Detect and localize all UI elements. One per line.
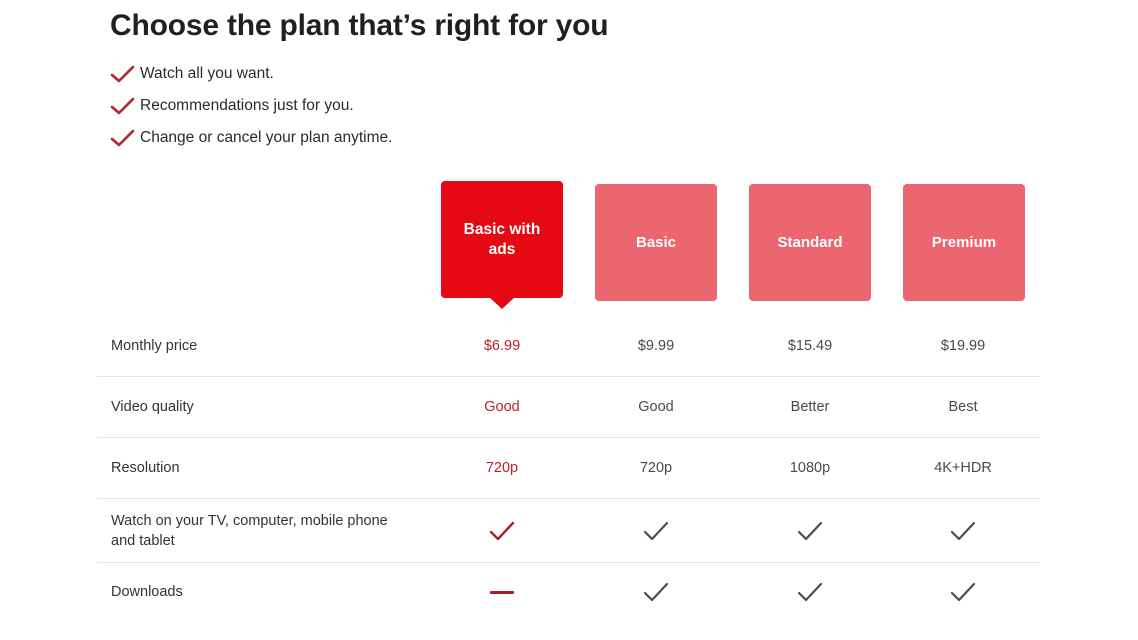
- table-row: Downloads: [97, 563, 1040, 621]
- check-icon: [110, 126, 140, 150]
- feature-label: Downloads: [111, 582, 401, 602]
- plan-card-standard[interactable]: Standard: [749, 184, 871, 301]
- check-icon: [740, 519, 880, 543]
- cell-value: [432, 519, 572, 543]
- check-icon: [432, 519, 572, 543]
- check-icon: [110, 94, 140, 118]
- feature-label: Watch on your TV, computer, mobile phone…: [111, 511, 401, 551]
- cell-value: [893, 580, 1033, 604]
- benefit-item: Recommendations just for you.: [110, 90, 1050, 122]
- check-icon: [110, 62, 140, 86]
- feature-label: Resolution: [111, 458, 401, 478]
- cell-value: Best: [893, 399, 1033, 415]
- cell-value: [586, 519, 726, 543]
- plan-card-label: Premium: [932, 233, 996, 253]
- plan-card-label: Basic with ads: [451, 220, 553, 260]
- cell-value: 720p: [586, 460, 726, 476]
- cell-value: 1080p: [740, 460, 880, 476]
- benefits-list: Watch all you want. Recommendations just…: [110, 58, 1050, 154]
- plan-selection-page: Choose the plan that’s right for you Wat…: [0, 0, 1138, 640]
- table-row: Video quality Good Good Better Best: [97, 377, 1040, 438]
- cell-value: Good: [586, 399, 726, 415]
- plan-cards: Basic with ads Basic Standard Premium: [441, 181, 1025, 306]
- table-row: Watch on your TV, computer, mobile phone…: [97, 499, 1040, 563]
- cell-value: [432, 580, 572, 604]
- cell-value: [893, 519, 1033, 543]
- plan-comparison-table: Monthly price $6.99 $9.99 $15.49 $19.99 …: [97, 316, 1040, 621]
- cell-value: [740, 519, 880, 543]
- cell-value: Better: [740, 399, 880, 415]
- feature-label: Video quality: [111, 397, 401, 417]
- plan-card-basic[interactable]: Basic: [595, 184, 717, 301]
- check-icon: [586, 580, 726, 604]
- table-row: Resolution 720p 720p 1080p 4K+HDR: [97, 438, 1040, 499]
- check-icon: [586, 519, 726, 543]
- benefit-label: Recommendations just for you.: [140, 96, 354, 116]
- page-title: Choose the plan that’s right for you: [110, 6, 1050, 46]
- dash-icon: [432, 580, 572, 604]
- cell-value: $6.99: [432, 338, 572, 354]
- check-icon: [740, 580, 880, 604]
- benefit-label: Change or cancel your plan anytime.: [140, 128, 392, 148]
- plan-card-label: Basic: [636, 233, 676, 253]
- benefit-label: Watch all you want.: [140, 64, 274, 84]
- feature-label: Monthly price: [111, 336, 401, 356]
- plan-card-premium[interactable]: Premium: [903, 184, 1025, 301]
- cell-value: $9.99: [586, 338, 726, 354]
- benefit-item: Watch all you want.: [110, 58, 1050, 90]
- cell-value: $19.99: [893, 338, 1033, 354]
- selected-plan-pointer: [489, 297, 515, 309]
- plan-card-basic-with-ads[interactable]: Basic with ads: [441, 181, 563, 298]
- benefit-item: Change or cancel your plan anytime.: [110, 122, 1050, 154]
- check-icon: [893, 580, 1033, 604]
- cell-value: Good: [432, 399, 572, 415]
- cell-value: $15.49: [740, 338, 880, 354]
- page-header: Choose the plan that’s right for you Wat…: [110, 6, 1050, 154]
- table-row: Monthly price $6.99 $9.99 $15.49 $19.99: [97, 316, 1040, 377]
- check-icon: [893, 519, 1033, 543]
- plan-card-label: Standard: [777, 233, 842, 253]
- cell-value: [740, 580, 880, 604]
- cell-value: 4K+HDR: [893, 460, 1033, 476]
- cell-value: [586, 580, 726, 604]
- cell-value: 720p: [432, 460, 572, 476]
